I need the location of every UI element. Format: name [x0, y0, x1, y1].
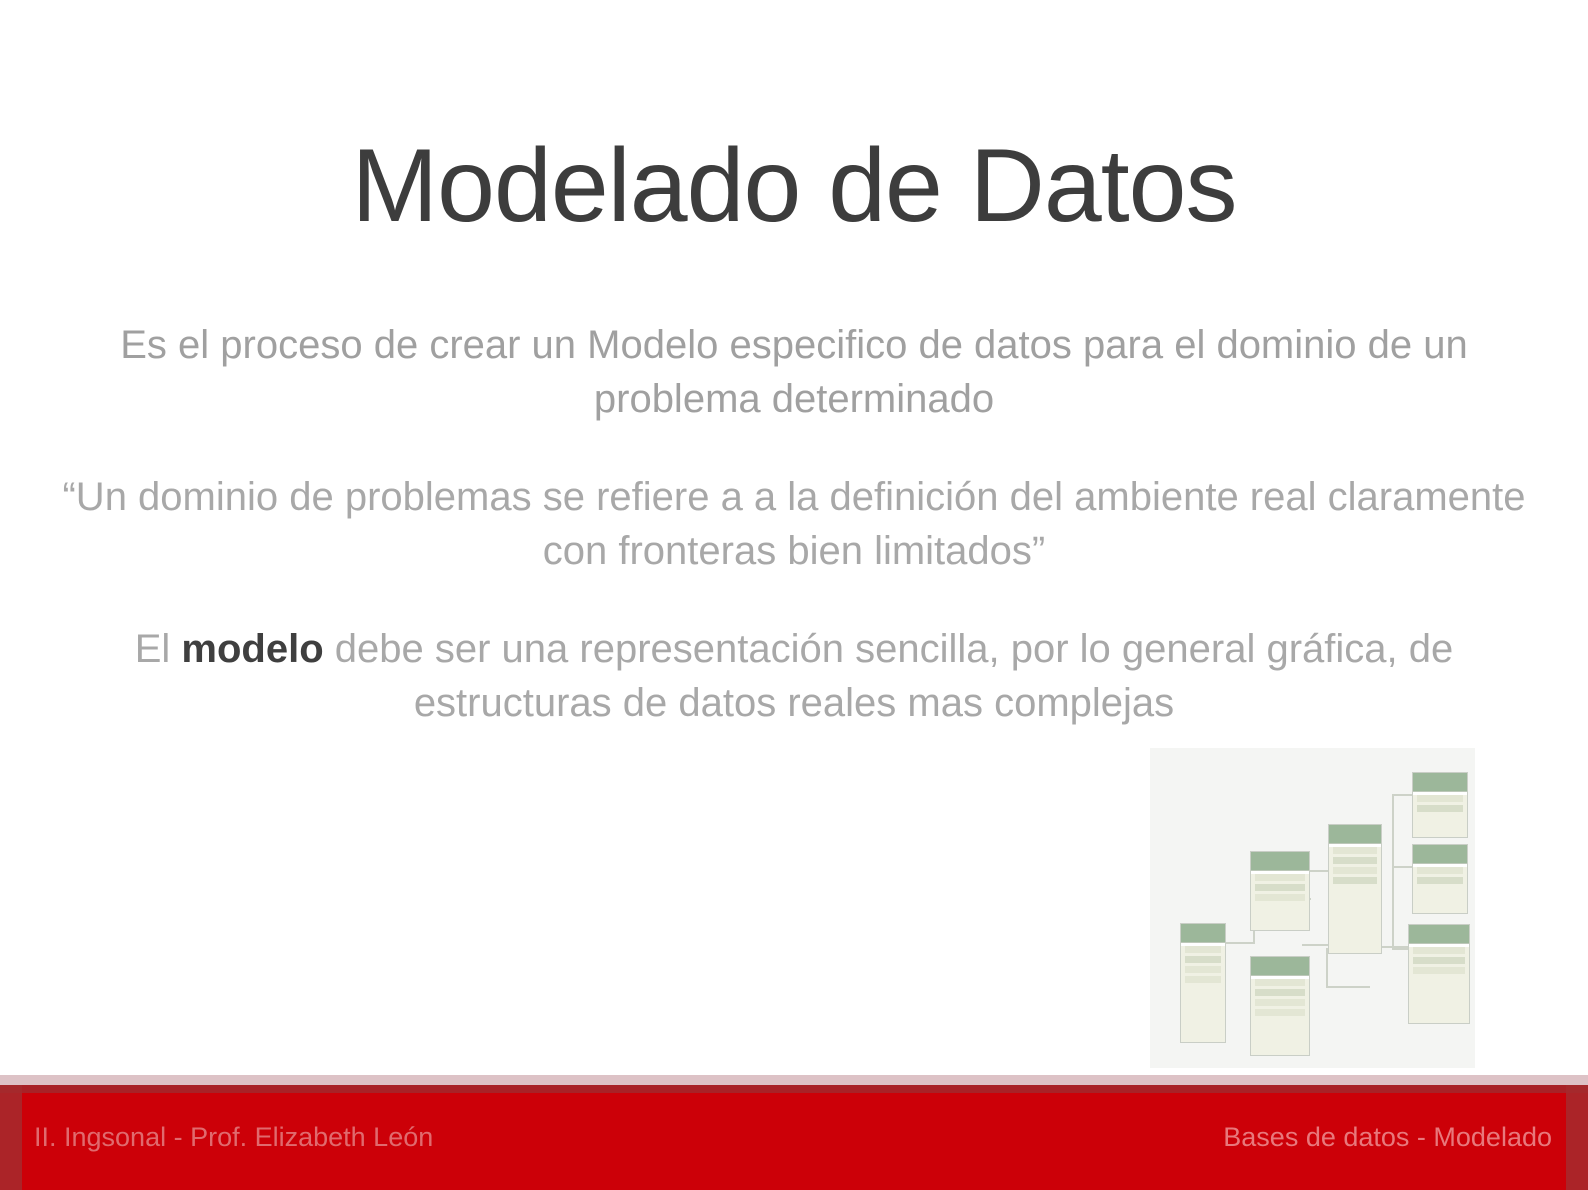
er-table [1328, 824, 1382, 954]
er-connector [1392, 794, 1394, 950]
er-table-row [1417, 805, 1463, 812]
er-table-row [1185, 966, 1221, 973]
footer-edge-right [1566, 1085, 1588, 1190]
er-table-header [1251, 957, 1309, 976]
er-table-rows [1409, 947, 1469, 1024]
slide: Modelado de Datos Es el proceso de crear… [0, 0, 1588, 1190]
er-table-row [1333, 857, 1377, 864]
er-table-row [1185, 946, 1221, 953]
er-table-row [1255, 884, 1305, 891]
er-table-row [1413, 947, 1465, 954]
er-table-row [1185, 956, 1221, 963]
footer-accent-strip [0, 1075, 1588, 1085]
er-table [1412, 844, 1468, 914]
er-table-header [1251, 852, 1309, 871]
er-table-row [1255, 999, 1305, 1006]
footer-subject: Bases de datos - Modelado [1223, 1122, 1552, 1153]
er-table-row [1255, 894, 1305, 901]
paragraph-definition: Es el proceso de crear un Modelo especif… [46, 318, 1542, 426]
er-table-row [1413, 957, 1465, 964]
paragraph-model-tail: debe ser una representación sencilla, po… [324, 627, 1454, 725]
paragraph-quote: “Un dominio de problemas se refiere a a … [46, 470, 1542, 578]
er-table-row [1417, 867, 1463, 874]
paragraph-model-lead: El [135, 627, 182, 671]
er-table-row [1185, 976, 1221, 983]
er-table-row [1255, 1009, 1305, 1016]
footer-edge-left [0, 1085, 22, 1190]
er-connector [1326, 986, 1370, 988]
er-table [1250, 956, 1310, 1056]
er-table-rows [1413, 867, 1467, 914]
er-table-header [1329, 825, 1381, 844]
footer-author: II. Ingsonal - Prof. Elizabeth León [34, 1122, 433, 1153]
er-table-row [1417, 877, 1463, 884]
er-table-row [1255, 979, 1305, 986]
er-table-row [1333, 847, 1377, 854]
er-table-header [1413, 773, 1467, 792]
paragraph-model-emphasis: modelo [181, 627, 323, 671]
er-table-row [1333, 867, 1377, 874]
er-diagram-canvas [1150, 748, 1475, 1068]
er-table-row [1417, 795, 1463, 802]
er-table-row [1255, 874, 1305, 881]
er-table-header [1413, 845, 1467, 864]
er-table-row [1413, 967, 1465, 974]
footer-top-line [0, 1085, 1588, 1093]
er-table-header [1181, 924, 1225, 943]
paragraph-model: El modelo debe ser una representación se… [46, 622, 1542, 730]
er-table-row [1255, 989, 1305, 996]
er-table [1180, 923, 1226, 1043]
er-table-rows [1413, 795, 1467, 838]
er-table-rows [1251, 979, 1309, 1056]
er-table-row [1333, 877, 1377, 884]
er-table [1408, 924, 1470, 1024]
er-table [1250, 851, 1310, 931]
er-table-rows [1251, 874, 1309, 931]
er-diagram-thumbnail [1150, 748, 1475, 1068]
er-table-header [1409, 925, 1469, 944]
er-table [1412, 772, 1468, 838]
page-title: Modelado de Datos [0, 132, 1588, 241]
er-table-rows [1329, 847, 1381, 954]
er-table-rows [1181, 946, 1225, 1043]
slide-body: Es el proceso de crear un Modelo especif… [46, 318, 1542, 730]
